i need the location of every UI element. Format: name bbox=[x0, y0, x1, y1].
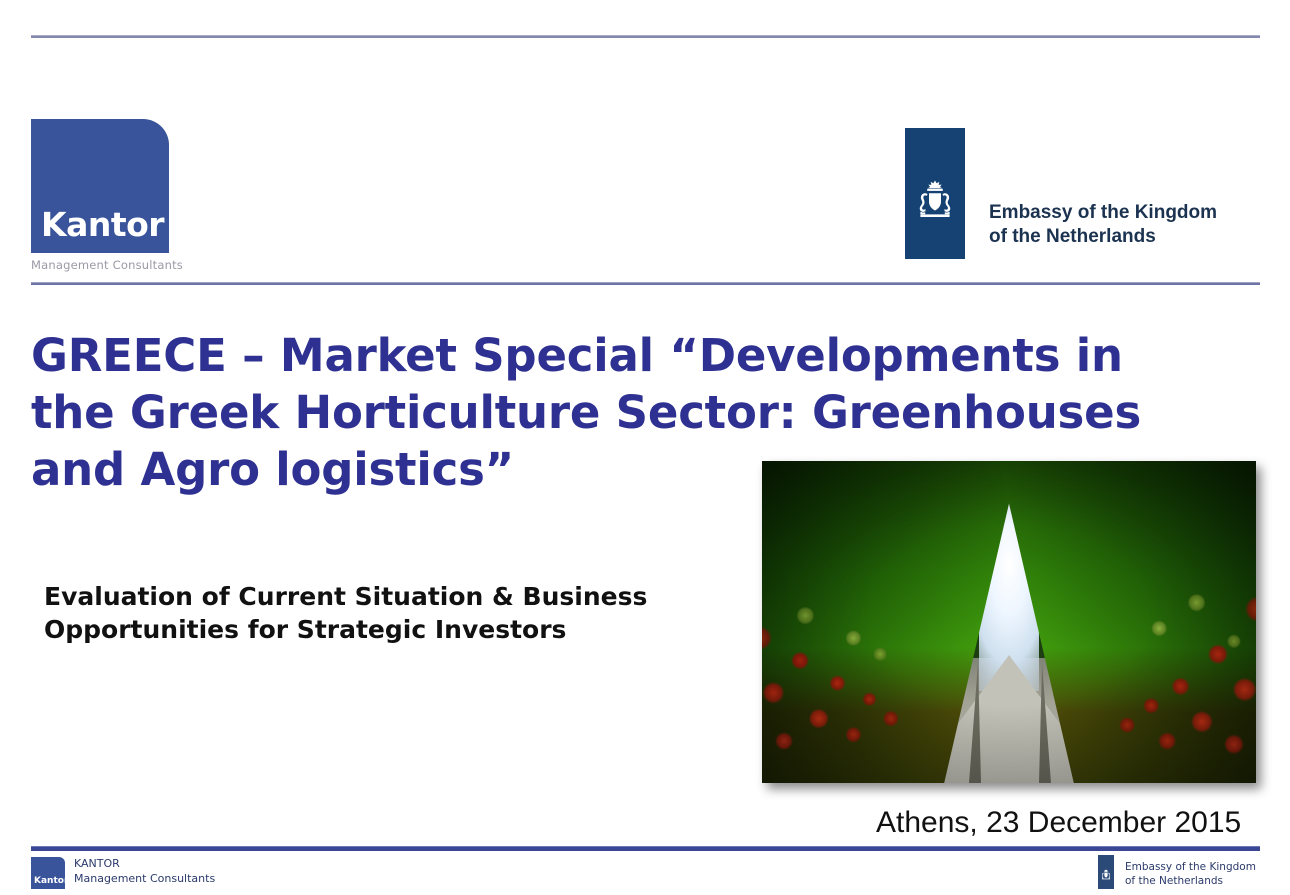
greenhouse-photo-image bbox=[762, 461, 1256, 783]
header-divider-rule bbox=[31, 282, 1260, 285]
kantor-logo-mark: Kantor bbox=[31, 119, 169, 253]
footer-netherlands-logo: Embassy of the Kingdom of the Netherland… bbox=[1098, 855, 1256, 889]
footer-netherlands-line2: of the Netherlands bbox=[1125, 874, 1256, 888]
footer-kantor-wordmark: Kantor bbox=[34, 877, 68, 886]
greenhouse-photo bbox=[762, 461, 1256, 783]
photo-vignette bbox=[762, 461, 1256, 783]
netherlands-embassy-logo: Embassy of the Kingdom of the Netherland… bbox=[905, 128, 1217, 259]
page-subtitle: Evaluation of Current Situation & Busine… bbox=[44, 580, 734, 646]
footer-netherlands-line1: Embassy of the Kingdom bbox=[1125, 860, 1256, 874]
footer-kantor-line1: KANTOR bbox=[74, 857, 215, 872]
footer-kantor-logo: Kantor KANTOR Management Consultants bbox=[31, 857, 215, 889]
netherlands-logo-line2: of the Netherlands bbox=[989, 225, 1217, 249]
kantor-tagline: Management Consultants bbox=[31, 258, 169, 272]
kantor-wordmark: Kantor bbox=[41, 208, 164, 241]
netherlands-logo-line1: Embassy of the Kingdom bbox=[989, 201, 1217, 225]
kantor-logo: Kantor Management Consultants bbox=[31, 119, 169, 272]
netherlands-logo-bar bbox=[905, 128, 965, 259]
dutch-coat-of-arms-icon bbox=[911, 177, 959, 225]
footer-netherlands-text: Embassy of the Kingdom of the Netherland… bbox=[1125, 860, 1256, 889]
footer-kantor-text: KANTOR Management Consultants bbox=[74, 857, 215, 887]
footer-divider-rule bbox=[31, 846, 1260, 851]
top-divider-rule bbox=[31, 35, 1260, 38]
title-slide: Kantor Management Consultants bbox=[0, 0, 1290, 895]
presentation-date: Athens, 23 December 2015 bbox=[876, 806, 1241, 840]
footer-kantor-logo-mark: Kantor bbox=[31, 857, 65, 889]
footer-netherlands-logo-bar bbox=[1098, 855, 1114, 889]
footer-kantor-line2: Management Consultants bbox=[74, 872, 215, 887]
dutch-coat-of-arms-icon bbox=[1100, 868, 1113, 881]
netherlands-logo-text: Embassy of the Kingdom of the Netherland… bbox=[989, 201, 1217, 249]
